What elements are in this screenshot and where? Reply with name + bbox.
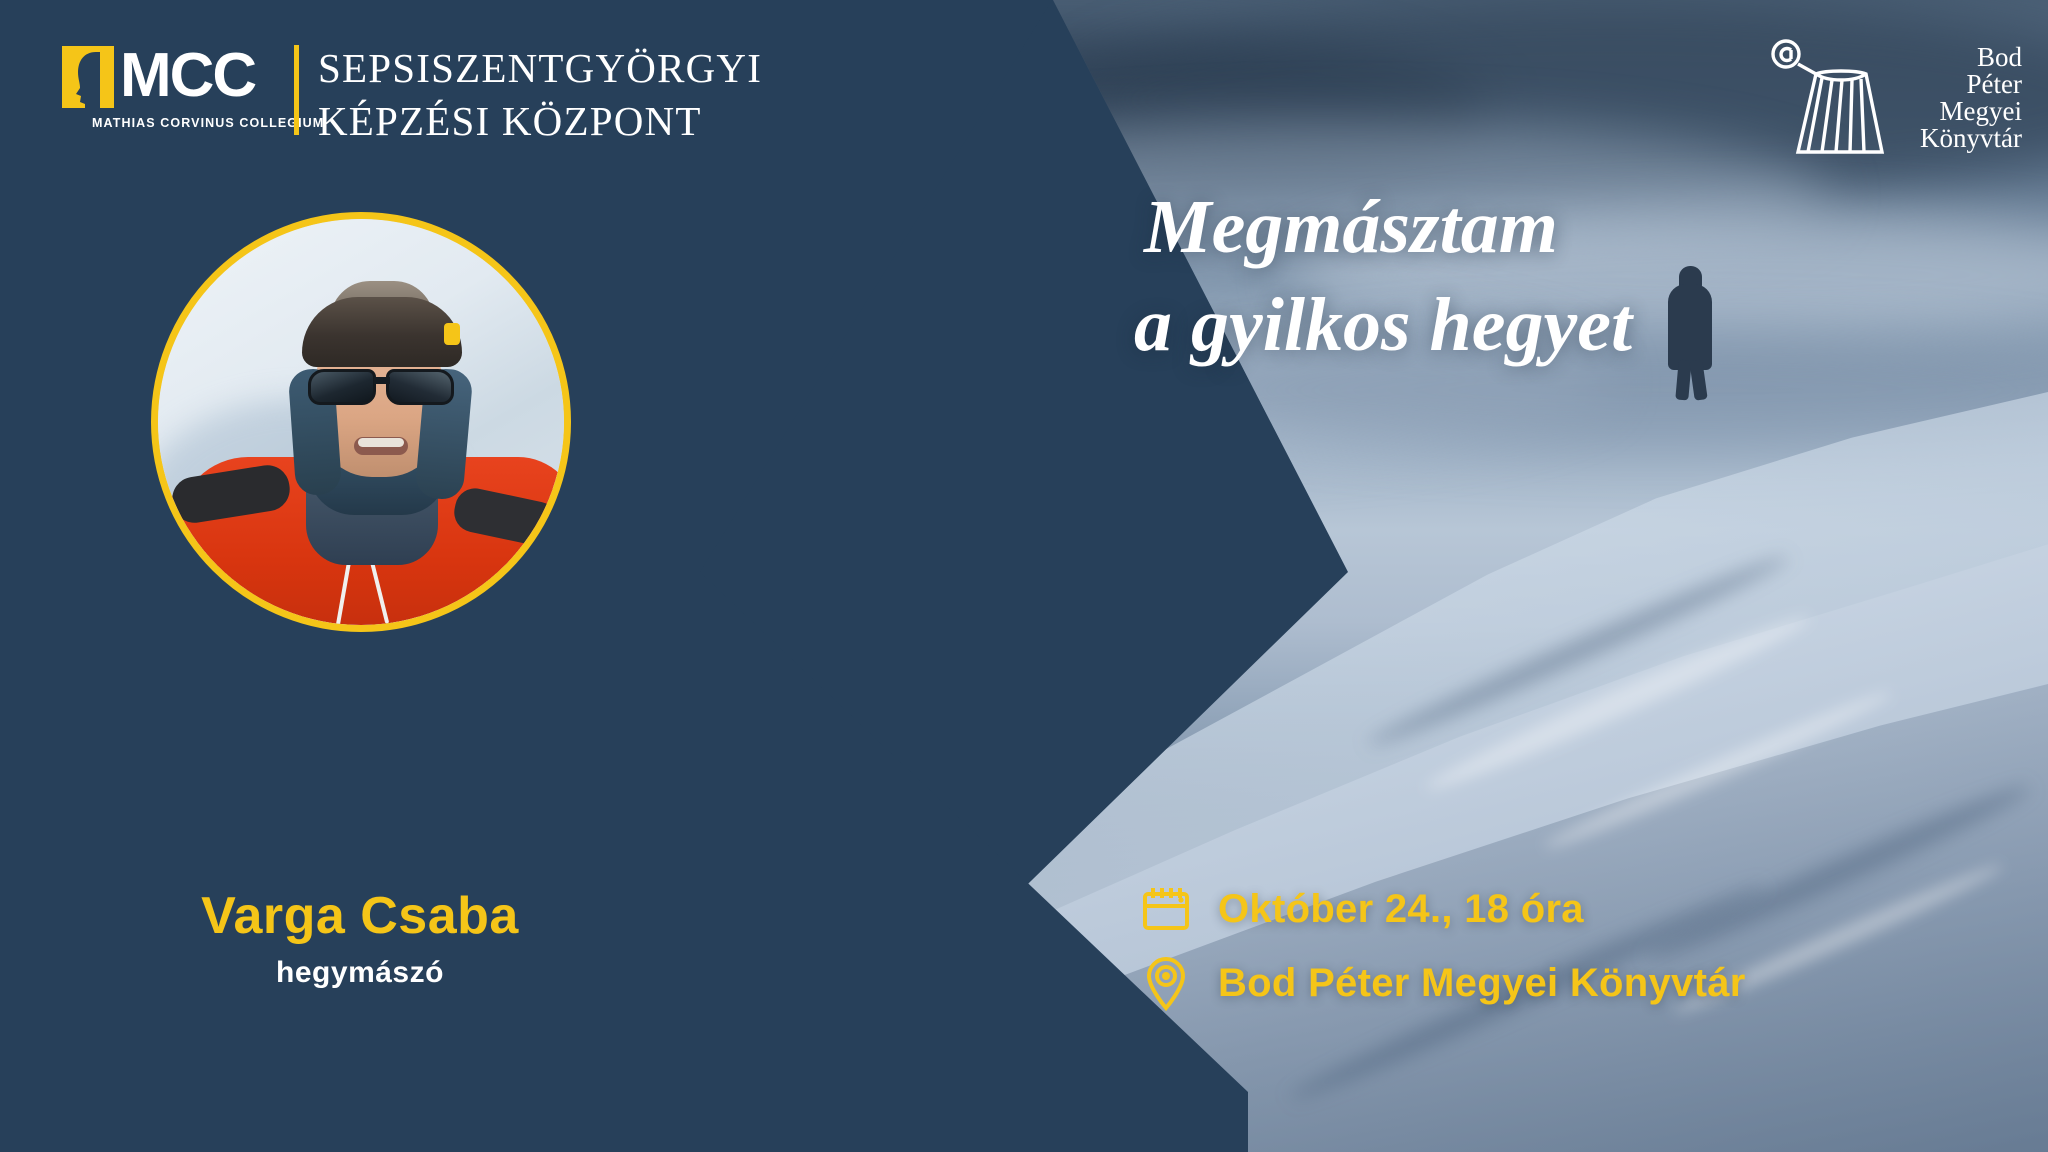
calendar-icon (1140, 883, 1218, 935)
portrait-image (158, 219, 564, 625)
mcc-logo: MCC MATHIAS CORVINUS COLLEGIUM (62, 42, 277, 142)
event-details: Október 24., 18 óra Bod Péter Megyei Kön… (1140, 872, 1980, 1020)
library-name-line4: Könyvtár (1892, 125, 2022, 152)
library-name-line2: Péter (1892, 71, 2022, 98)
map-pin-icon (1140, 954, 1218, 1012)
library-logo: Bod Péter Megyei Könyvtár (1764, 30, 2022, 154)
mcc-full-name: MATHIAS CORVINUS COLLEGIUM (92, 116, 324, 130)
training-center-name: SEPSISZENTGYÖRGYI KÉPZÉSI KÖZPONT (318, 42, 738, 148)
vertical-divider (294, 45, 299, 135)
event-date-row: Október 24., 18 óra (1140, 872, 1980, 946)
speaker-name: Varga Csaba (0, 886, 720, 946)
event-title-line2: a gyilkos hegyet (1128, 276, 1948, 374)
mcc-wordmark: MCC (120, 42, 255, 110)
event-location-row: Bod Péter Megyei Könyvtár (1140, 946, 1980, 1020)
corvinus-profile-icon (62, 46, 114, 108)
library-name-line1: Bod (1892, 44, 2022, 71)
library-name-line3: Megyei (1892, 98, 2022, 125)
library-name: Bod Péter Megyei Könyvtár (1892, 44, 2022, 152)
speaker-role: hegymászó (0, 956, 720, 990)
event-title-line1: Megmásztam (1128, 178, 1948, 276)
speaker-portrait (151, 212, 571, 632)
event-location: Bod Péter Megyei Könyvtár (1218, 961, 1746, 1006)
event-date: Október 24., 18 óra (1218, 887, 1584, 932)
corvinus-profile-icon (74, 52, 104, 108)
poster-canvas: MCC MATHIAS CORVINUS COLLEGIUM SEPSISZEN… (0, 0, 2048, 1152)
event-title: Megmásztam a gyilkos hegyet (1128, 178, 1948, 374)
